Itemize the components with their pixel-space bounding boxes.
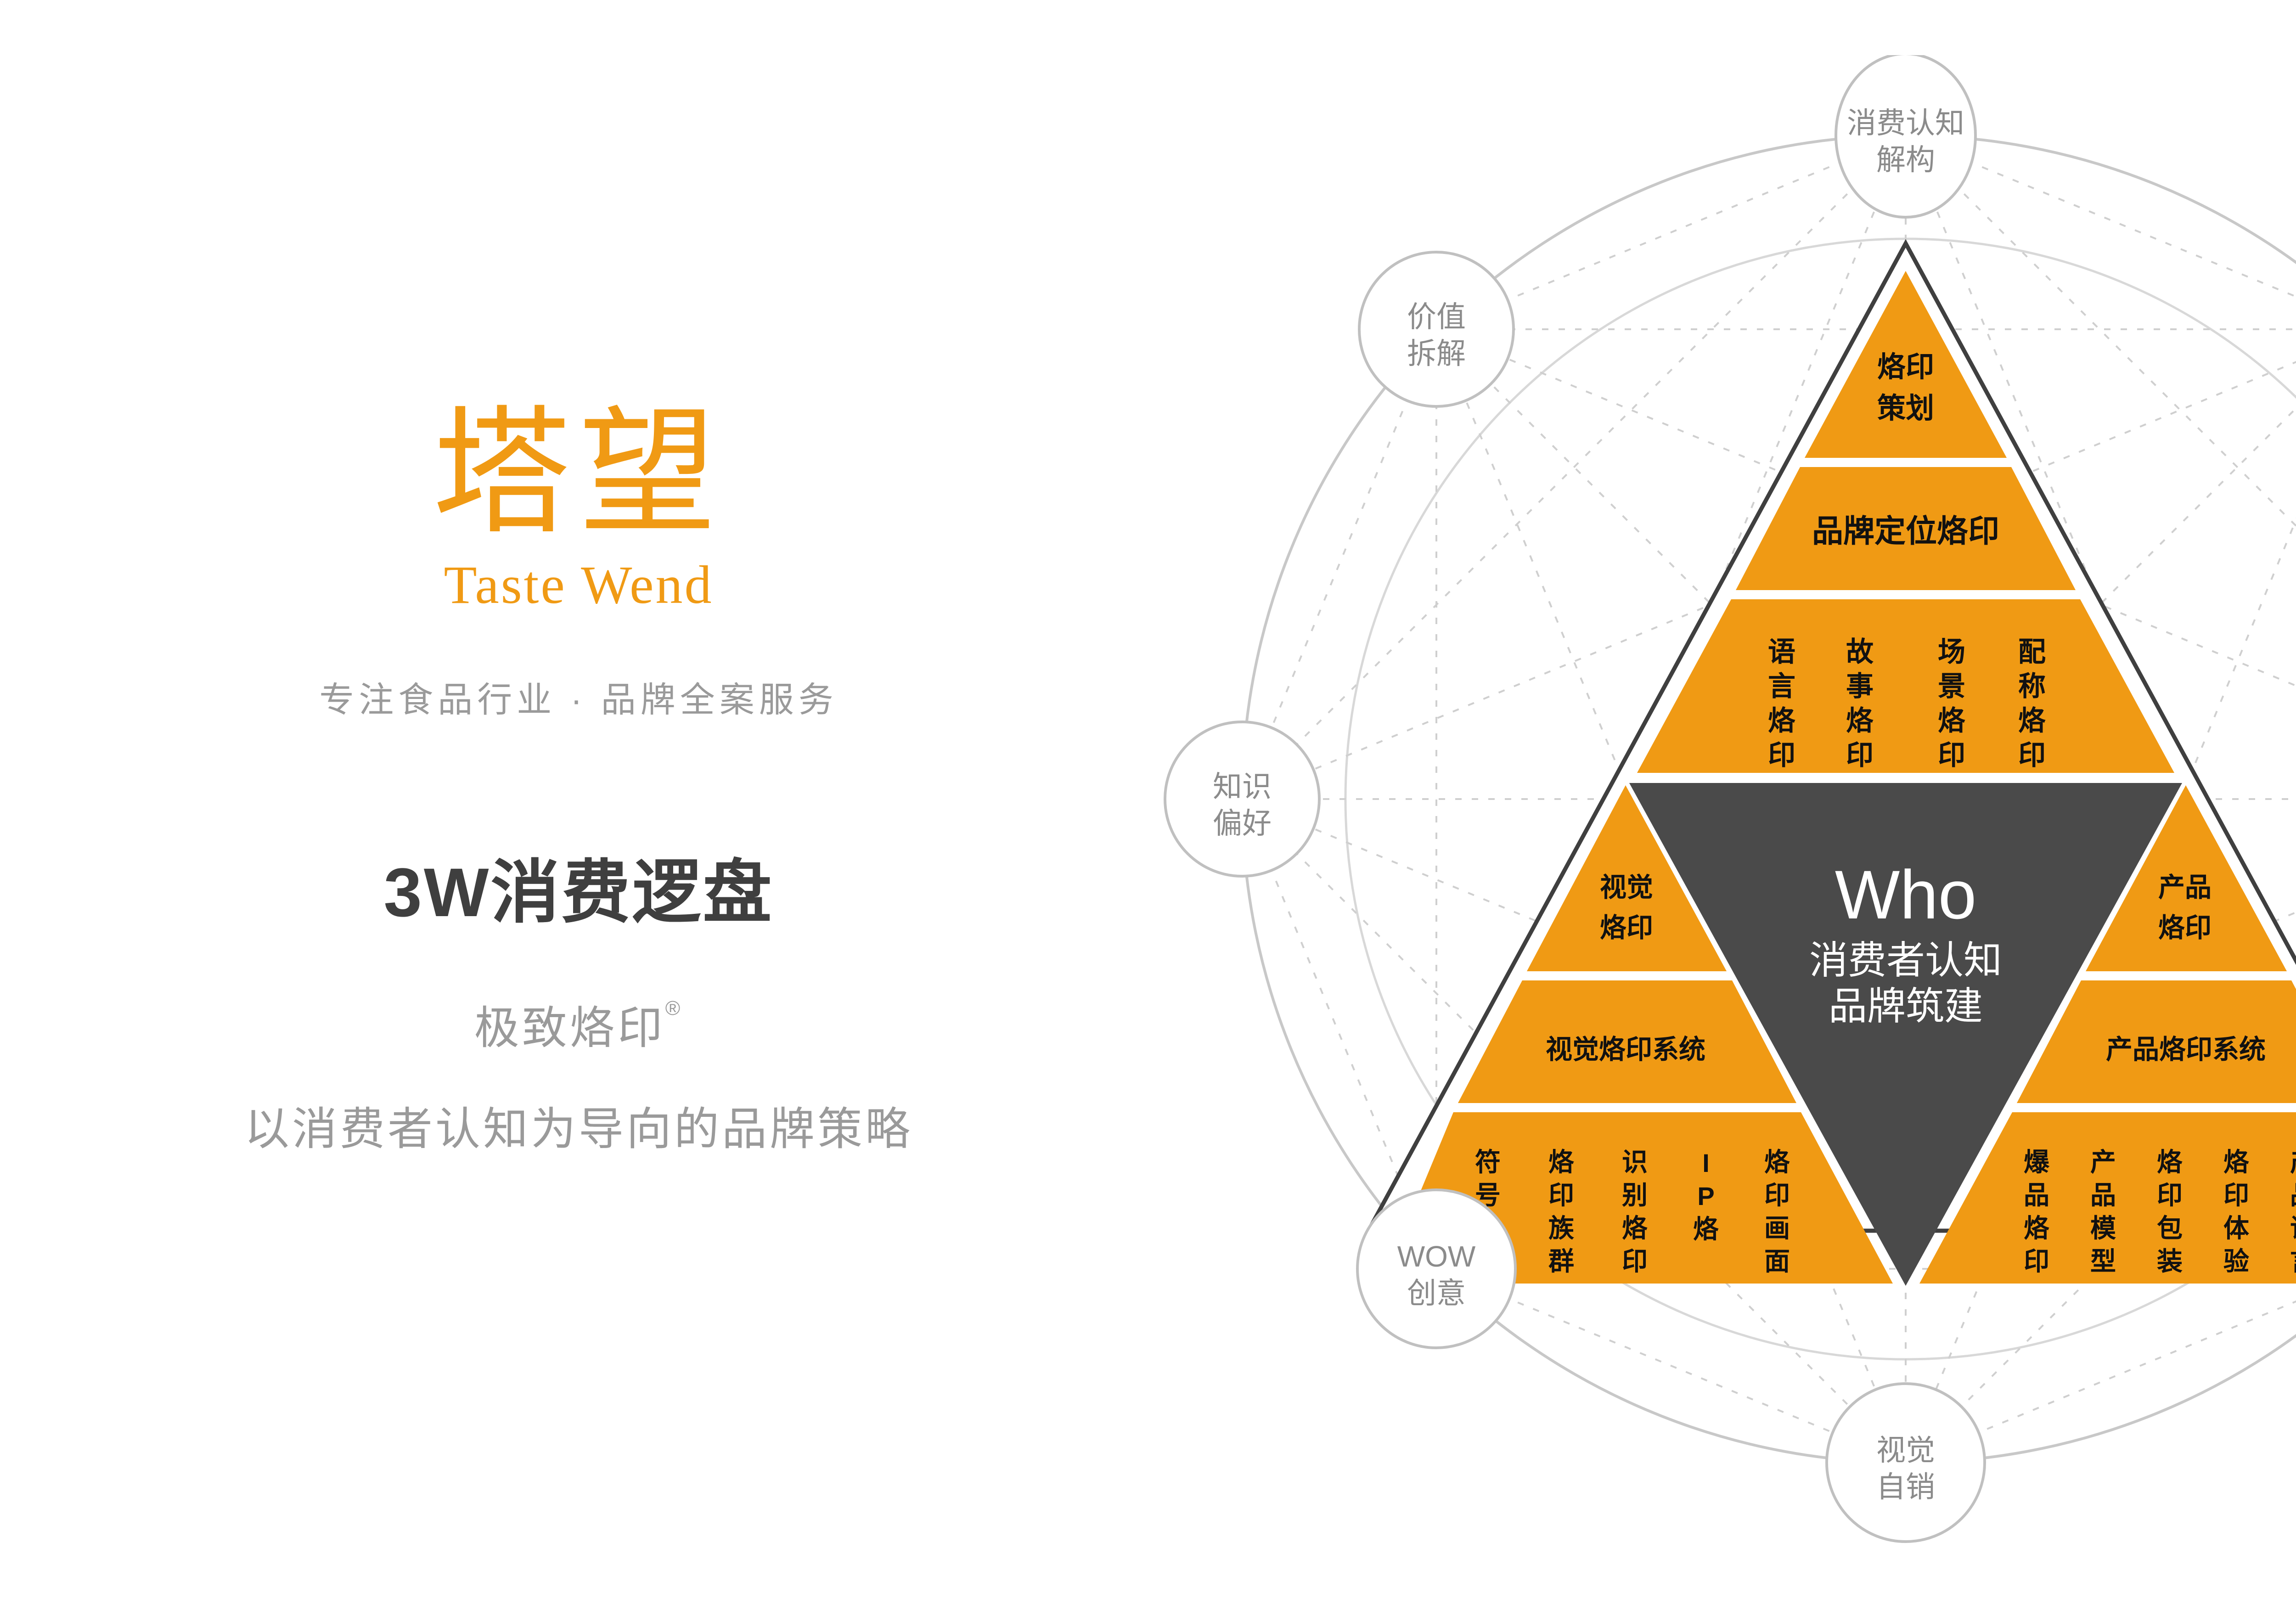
ring-node-bottom-left-line1: WOW [1397,1240,1476,1273]
svg-text:烙: 烙 [1846,705,1874,736]
left-band-label: 视觉烙印系统 [1546,1035,1705,1064]
svg-text:爆: 爆 [2024,1148,2050,1177]
svg-text:烙: 烙 [2157,1148,2183,1177]
center-who-labels: Who 消费者认知 品牌筑建 [1809,856,2002,1028]
left-text-panel: 塔望 Taste Wend 专注食品行业 · 品牌全案服务 3W消费逻盘 极致烙… [0,404,1157,1158]
svg-text:群: 群 [1548,1247,1574,1276]
svg-text:族: 族 [1548,1214,1574,1243]
svg-text:语: 语 [2290,1214,2296,1243]
right-apex-label-line1: 产品 [2158,873,2212,902]
svg-text:烙: 烙 [2018,705,2046,736]
ring-node-top-line2: 解构 [1876,143,1935,176]
top-items-tile[interactable] [1637,599,2174,773]
svg-text:品: 品 [2024,1181,2049,1210]
ring-node-bottom-left[interactable]: WOW 创意 [1357,1190,1515,1348]
page-title: 3W消费逻盘 [383,837,773,936]
svg-text:包: 包 [2157,1214,2183,1243]
svg-text:体: 体 [2223,1214,2249,1243]
svg-text:符: 符 [1475,1148,1501,1177]
svg-text:模: 模 [2090,1214,2116,1243]
svg-text:烙: 烙 [1764,1148,1790,1177]
right-band-label: 产品烙印系统 [2106,1035,2266,1064]
ring-node-top-left-line1: 价值 [1407,300,1466,333]
svg-text:品: 品 [2090,1181,2116,1210]
svg-text:装: 装 [2157,1247,2183,1276]
svg-text:产: 产 [2090,1148,2116,1177]
ring-node-top-left-line2: 拆解 [1407,337,1466,370]
svg-text:烙: 烙 [2024,1214,2049,1243]
svg-text:称: 称 [2018,671,2046,702]
left-apex-label-line2: 烙印 [1600,913,1653,943]
svg-text:配: 配 [2018,636,2046,667]
subtitle-secondary: 以消费者认知为导向的品牌策略 [244,1092,913,1158]
center-who-line1: 消费者认知 [1809,939,2002,982]
center-who-line2: 品牌筑建 [1829,985,1983,1028]
top-apex-label-line1: 烙印 [1877,351,1934,383]
svg-text:识: 识 [1622,1148,1648,1177]
svg-text:景: 景 [1938,671,1965,702]
brand-logo: 塔望 Taste Wend [433,404,725,616]
top-band-label: 品牌定位烙印 [1812,514,1999,549]
svg-text:印: 印 [1846,740,1874,771]
svg-text:印: 印 [2024,1247,2049,1276]
3w-logic-diagram: 烙印 策划 品牌定位烙印 语 言 烙 印 故 事 烙 印 场 [1125,55,2296,1561]
svg-text:P: P [1697,1182,1714,1211]
svg-text:故: 故 [1846,636,1874,667]
svg-text:言: 言 [1768,671,1795,702]
ring-node-top[interactable]: 消费认知 解构 [1836,55,1975,217]
svg-text:印: 印 [2157,1181,2183,1210]
svg-text:别: 别 [1622,1181,1648,1210]
top-apex-label-line2: 策划 [1877,393,1934,424]
svg-text:印: 印 [2018,740,2046,771]
svg-text:烙: 烙 [1938,705,1965,736]
svg-text:语: 语 [1768,636,1795,667]
svg-text:烙: 烙 [1768,705,1795,736]
svg-text:烙: 烙 [1548,1148,1574,1177]
svg-text:印: 印 [1764,1181,1790,1210]
ring-node-bottom-line1: 视觉 [1876,1434,1935,1467]
ring-node-bottom-line2: 自销 [1876,1470,1935,1503]
svg-text:印: 印 [1938,740,1965,771]
svg-text:画: 画 [1764,1214,1790,1243]
subtitle-primary: 极致烙印® [474,991,683,1057]
svg-text:I: I [1702,1149,1710,1177]
ring-node-bottom-left-line2: 创意 [1407,1277,1466,1310]
ring-node-left-line2: 偏好 [1213,807,1272,840]
subtitle-primary-text: 极致烙印 [474,1002,665,1053]
svg-text:印: 印 [2223,1181,2249,1210]
svg-text:验: 验 [2223,1247,2249,1276]
svg-text:烙: 烙 [1622,1214,1648,1243]
svg-text:场: 场 [1938,636,1965,667]
svg-text:印: 印 [1548,1181,1574,1210]
svg-text:印: 印 [1768,740,1795,771]
svg-text:印: 印 [1622,1247,1648,1276]
left-apex-label-line1: 视觉 [1600,873,1653,902]
svg-text:型: 型 [2090,1247,2116,1276]
ring-node-bottom[interactable]: 视觉 自销 [1827,1384,1985,1542]
brand-tagline: 专注食品行业 · 品牌全案服务 [319,671,838,722]
ring-node-left-line1: 知识 [1213,770,1272,803]
ring-node-top-left[interactable]: 价值 拆解 [1359,252,1514,406]
logo-chinese-text: 塔望 [433,404,725,542]
svg-text:面: 面 [1764,1247,1790,1276]
registered-mark-icon: ® [665,997,683,1019]
svg-text:产: 产 [2290,1148,2296,1177]
logo-english-text: Taste Wend [444,554,714,616]
svg-text:品: 品 [2290,1181,2296,1210]
svg-text:烙: 烙 [1693,1215,1719,1244]
poster-canvas: 塔望 Taste Wend 专注食品行业 · 品牌全案服务 3W消费逻盘 极致烙… [0,0,2296,1616]
ring-node-left[interactable]: 知识 偏好 [1165,722,1319,876]
center-who-en: Who [1835,856,1976,933]
svg-text:烙: 烙 [2223,1148,2249,1177]
svg-text:言: 言 [2290,1247,2296,1276]
svg-text:事: 事 [1846,671,1874,702]
right-apex-label-line2: 烙印 [2158,913,2212,943]
ring-node-top-line1: 消费认知 [1847,107,1964,140]
